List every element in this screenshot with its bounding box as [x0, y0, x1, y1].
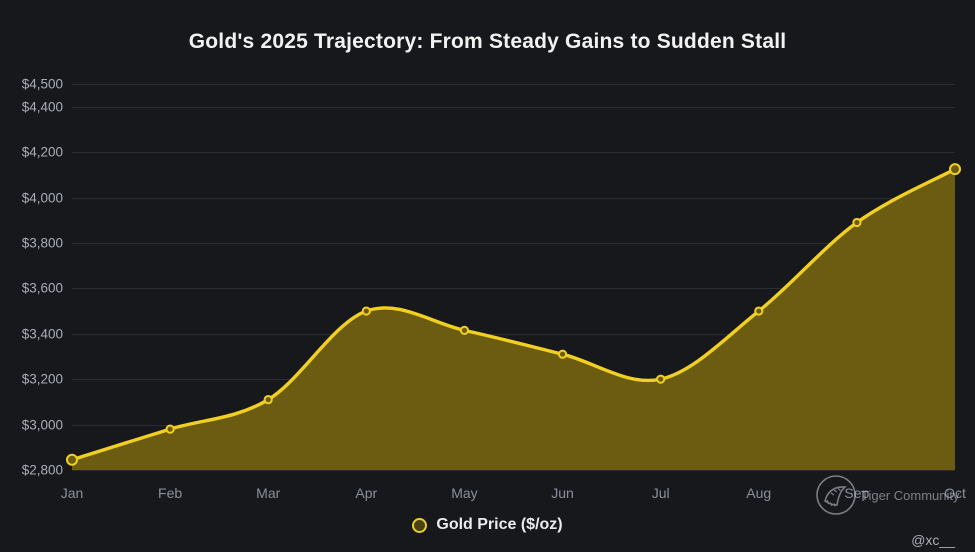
data-point-marker[interactable] — [755, 307, 762, 314]
x-axis-tick-label: Jan — [32, 485, 112, 501]
data-point-marker[interactable] — [657, 376, 664, 383]
y-axis-tick-label: $4,500 — [3, 77, 63, 92]
y-axis-tick-label: $3,600 — [3, 281, 63, 296]
y-axis-tick-label: $3,000 — [3, 417, 63, 432]
data-point-marker[interactable] — [67, 455, 77, 465]
legend-marker-icon — [412, 518, 427, 533]
x-axis-tick-label: Feb — [130, 485, 210, 501]
data-point-marker[interactable] — [461, 327, 468, 334]
area-fill — [72, 169, 955, 470]
chart-container: Gold's 2025 Trajectory: From Steady Gain… — [0, 0, 975, 552]
x-axis-tick-label: Sep — [817, 485, 897, 501]
x-axis-tick-label: Oct — [915, 485, 975, 501]
chart-title: Gold's 2025 Trajectory: From Steady Gain… — [0, 30, 975, 54]
x-axis-tick-label: Aug — [719, 485, 799, 501]
x-axis-tick-label: Jul — [621, 485, 701, 501]
data-point-marker[interactable] — [363, 307, 370, 314]
y-axis-tick-label: $3,800 — [3, 235, 63, 250]
y-axis-tick-label: $3,200 — [3, 372, 63, 387]
data-point-marker[interactable] — [559, 351, 566, 358]
legend-label: Gold Price ($/oz) — [436, 516, 562, 534]
watermark-handle: @xc__ — [911, 532, 955, 548]
chart-legend: Gold Price ($/oz) — [0, 516, 975, 534]
y-axis-tick-label: $4,400 — [3, 99, 63, 114]
data-point-marker[interactable] — [265, 396, 272, 403]
data-point-marker[interactable] — [853, 219, 860, 226]
y-axis-tick-label: $4,200 — [3, 145, 63, 160]
x-axis-tick-label: Apr — [326, 485, 406, 501]
series-gold-price — [72, 84, 955, 470]
data-point-marker[interactable] — [950, 164, 960, 174]
y-axis-tick-label: $2,800 — [3, 463, 63, 478]
x-axis-tick-label: Mar — [228, 485, 308, 501]
x-axis-tick-label: May — [424, 485, 504, 501]
gridline — [72, 470, 955, 471]
y-axis-tick-label: $3,400 — [3, 326, 63, 341]
y-axis-tick-label: $4,000 — [3, 190, 63, 205]
x-axis-tick-label: Jun — [523, 485, 603, 501]
data-point-marker[interactable] — [167, 426, 174, 433]
